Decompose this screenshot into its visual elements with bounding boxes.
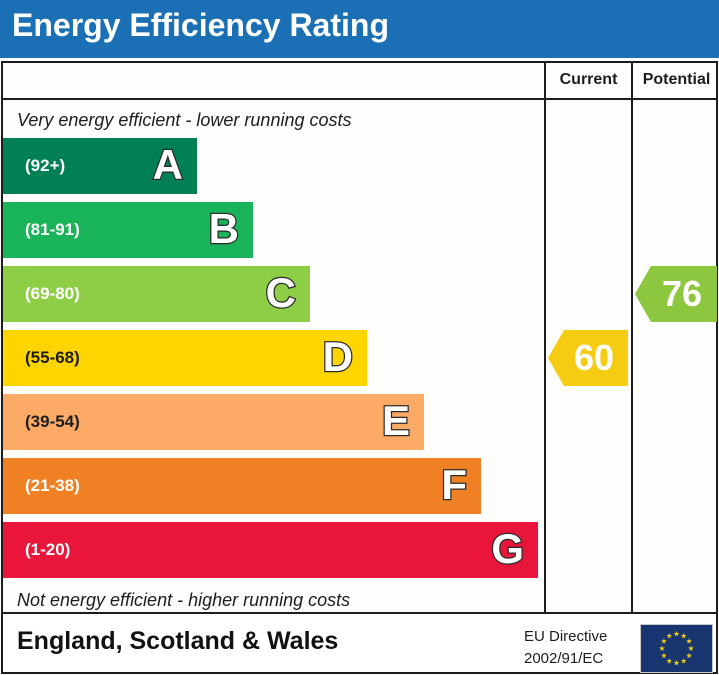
chart-title-bar: Energy Efficiency Rating	[0, 0, 719, 58]
footer-region-label: England, Scotland & Wales	[17, 627, 338, 656]
band-row-c: (69-80)C	[3, 266, 310, 322]
column-header-potential: Potential	[633, 71, 719, 89]
footer-directive: EU Directive 2002/91/EC	[524, 626, 632, 670]
band-letter-c: C	[266, 272, 296, 314]
energy-efficiency-rating-chart: Energy Efficiency Rating Current Potenti…	[0, 0, 719, 675]
current-rating-value: 60	[562, 340, 614, 376]
band-range-g: (1-20)	[25, 540, 70, 560]
band-row-d: (55-68)D	[3, 330, 367, 386]
potential-rating-arrow: 76	[635, 266, 717, 322]
band-row-b: (81-91)B	[3, 202, 253, 258]
eu-flag-stars	[641, 625, 712, 672]
band-row-e: (39-54)E	[3, 394, 424, 450]
current-rating-arrow: 60	[548, 330, 628, 386]
rating-table: Current Potential Very energy efficient …	[1, 61, 718, 614]
potential-rating-value: 76	[650, 276, 702, 312]
band-range-b: (81-91)	[25, 220, 80, 240]
directive-line-1: EU Directive	[524, 626, 632, 648]
page-title: Energy Efficiency Rating	[12, 7, 389, 44]
band-row-g: (1-20)G	[3, 522, 538, 578]
eu-flag-icon	[640, 624, 713, 673]
chart-footer: England, Scotland & Wales EU Directive 2…	[1, 614, 718, 674]
band-letter-f: F	[441, 464, 467, 506]
band-range-c: (69-80)	[25, 284, 80, 304]
band-letter-a: A	[153, 144, 183, 186]
band-row-f: (21-38)F	[3, 458, 481, 514]
column-divider-current	[544, 63, 546, 612]
band-row-a: (92+)A	[3, 138, 197, 194]
caption-efficient: Very energy efficient - lower running co…	[17, 110, 352, 131]
band-letter-e: E	[382, 400, 410, 442]
band-letter-g: G	[491, 528, 524, 570]
band-range-d: (55-68)	[25, 348, 80, 368]
column-header-current: Current	[546, 71, 631, 89]
band-list: (92+)A(81-91)B(69-80)C(55-68)D(39-54)E(2…	[3, 138, 542, 588]
band-range-a: (92+)	[25, 156, 65, 176]
band-letter-d: D	[323, 336, 353, 378]
band-range-f: (21-38)	[25, 476, 80, 496]
column-divider-potential	[631, 63, 633, 612]
caption-inefficient: Not energy efficient - higher running co…	[17, 590, 350, 611]
band-range-e: (39-54)	[25, 412, 80, 432]
band-letter-b: B	[209, 208, 239, 250]
directive-line-2: 2002/91/EC	[524, 648, 632, 670]
